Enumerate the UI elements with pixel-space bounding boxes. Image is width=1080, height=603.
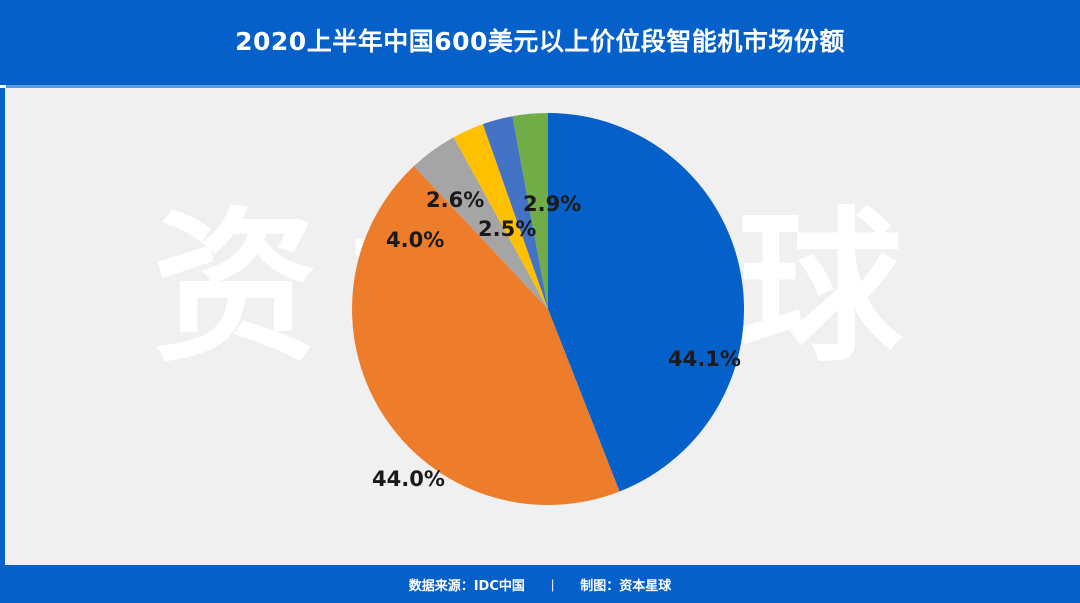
pie-svg	[348, 113, 748, 505]
footer-bar: 数据来源：IDC中国 | 制图：资本星球	[0, 565, 1080, 603]
footer-credit: 制图：资本星球	[580, 575, 671, 594]
pie-slice-group	[352, 113, 744, 505]
footer-separator: |	[551, 577, 554, 592]
pie-label-oppo: 2.6%	[426, 188, 484, 212]
page-title: 2020上半年中国600美元以上价位段智能机市场份额	[0, 22, 1080, 58]
header-banner: 2020上半年中国600美元以上价位段智能机市场份额	[0, 0, 1080, 85]
chart-area: 资本星球 44.1% 44.0% 4.0% 2.6% 2.5% 2.9% 华为苹…	[0, 88, 1080, 565]
pie-label-other: 2.9%	[523, 192, 581, 216]
chart-infographic: 2020上半年中国600美元以上价位段智能机市场份额 资本星球 44.1% 44…	[0, 0, 1080, 603]
pie-label-samsung: 2.5%	[478, 217, 536, 241]
pie-chart	[348, 113, 748, 505]
footer-source: 数据来源：IDC中国	[409, 575, 525, 594]
pie-label-apple: 44.0%	[372, 467, 445, 491]
pie-label-xiaomi: 4.0%	[386, 228, 444, 252]
pie-label-huawei: 44.1%	[668, 347, 741, 371]
